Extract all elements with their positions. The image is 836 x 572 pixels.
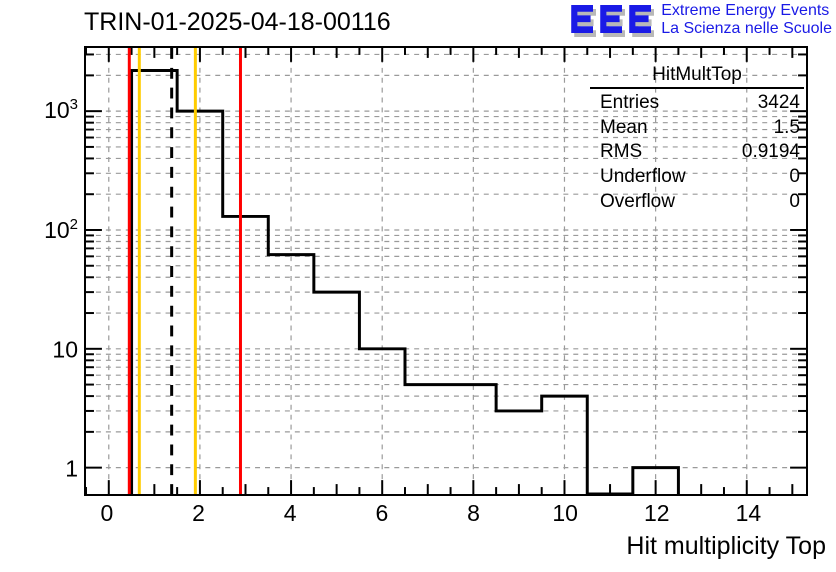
statistics-divider [590,87,804,89]
statistics-row-value: 0 [789,165,800,190]
x-tick-label: 10 [552,500,578,527]
x-tick-label: 2 [192,500,205,527]
eee-logo-line2: La Scienza nelle Scuole [661,20,832,38]
root-canvas: TRIN-01-2025-04-18-00116 Extreme Energy … [0,0,836,572]
statistics-row-value: 0 [789,190,800,215]
statistics-row: RMS0.9194 [586,140,808,165]
x-axis-title: Hit multiplicity Top [626,532,826,561]
eee-logo-text: Extreme Energy Events La Scienza nelle S… [661,2,832,38]
statistics-row-label: Overflow [600,190,675,215]
statistics-row: Overflow0 [586,190,808,215]
x-tick-label: 12 [644,500,670,527]
statistics-row-value: 1.5 [774,116,800,141]
statistics-row: Mean1.5 [586,116,808,141]
y-tick-label: 102 [44,216,78,244]
eee-letter-icon [629,5,651,33]
statistics-rows: Entries3424Mean1.5RMS0.9194Underflow0Ove… [586,91,808,214]
statistics-row: Underflow0 [586,165,808,190]
y-axis-tick-labels: 110102103 [10,46,78,496]
x-tick-label: 0 [101,500,114,527]
statistics-row-label: RMS [600,140,642,165]
y-tick-label: 1 [65,456,78,483]
eee-letter-icon [571,5,593,33]
x-tick-label: 8 [467,500,480,527]
x-axis-tick-labels: 02468101214 [84,500,808,530]
eee-logo: Extreme Energy Events La Scienza nelle S… [571,2,832,38]
statistics-row-label: Mean [600,116,648,141]
eee-letter-icon [600,5,622,33]
y-tick-label: 103 [44,96,78,124]
eee-logo-line1: Extreme Energy Events [661,2,832,20]
x-tick-label: 4 [284,500,297,527]
x-tick-label: 14 [736,500,762,527]
statistics-row-label: Underflow [600,165,686,190]
statistics-box: HitMultTop Entries3424Mean1.5RMS0.9194Un… [586,62,808,208]
statistics-row: Entries3424 [586,91,808,116]
x-tick-label: 6 [375,500,388,527]
statistics-title: HitMultTop [586,64,808,87]
page-title: TRIN-01-2025-04-18-00116 [84,8,391,37]
y-tick-label: 10 [52,336,78,363]
statistics-row-value: 0.9194 [742,140,800,165]
statistics-row-label: Entries [600,91,659,116]
eee-logo-mark [571,2,655,38]
statistics-row-value: 3424 [758,91,800,116]
